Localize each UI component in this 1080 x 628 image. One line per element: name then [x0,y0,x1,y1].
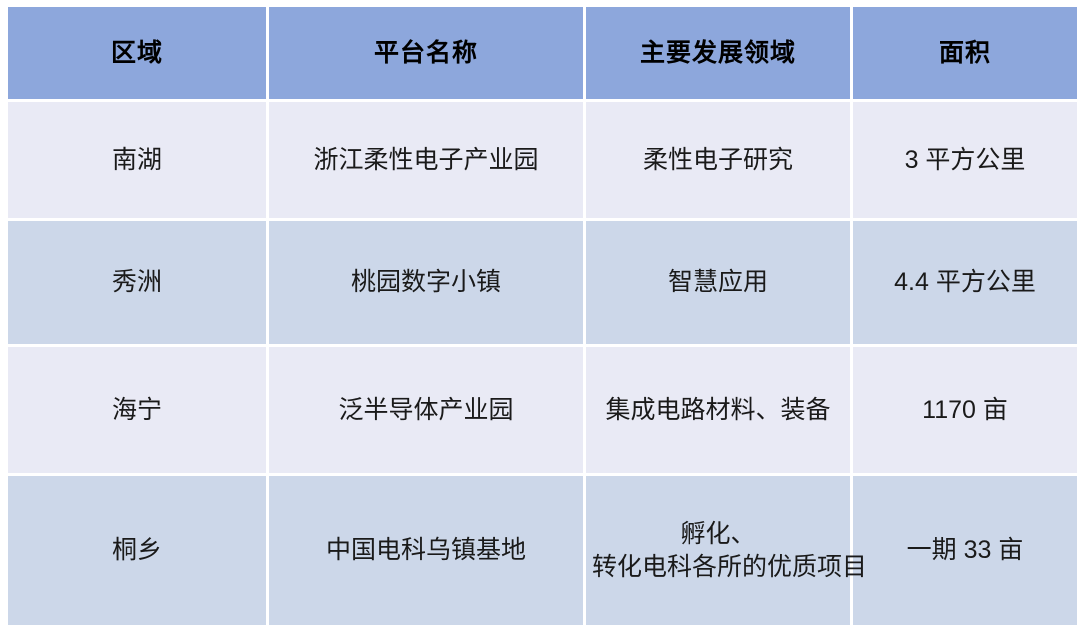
table-header-row: 区域 平台名称 主要发展领域 面积 [8,7,1077,99]
table-row: 南湖 浙江柔性电子产业园 柔性电子研究 3 平方公里 [8,102,1077,218]
cell-region: 桐乡 [8,476,266,625]
cell-region: 南湖 [8,102,266,218]
table-row: 海宁 泛半导体产业园 集成电路材料、装备 1170 亩 [8,347,1077,473]
column-header-platform: 平台名称 [269,7,583,99]
column-header-region: 区域 [8,7,266,99]
cell-field: 智慧应用 [586,221,850,344]
table-body: 南湖 浙江柔性电子产业园 柔性电子研究 3 平方公里 秀洲 桃园数字小镇 智慧应… [8,102,1077,625]
cell-region: 海宁 [8,347,266,473]
cell-field: 孵化、转化电科各所的优质项目 [586,476,850,625]
cell-area: 一期 33 亩 [853,476,1077,625]
table-header: 区域 平台名称 主要发展领域 面积 [8,7,1077,99]
table-row: 秀洲 桃园数字小镇 智慧应用 4.4 平方公里 [8,221,1077,344]
cell-area: 1170 亩 [853,347,1077,473]
platforms-table: 区域 平台名称 主要发展领域 面积 南湖 浙江柔性电子产业园 柔性电子研究 3 … [5,4,1080,628]
cell-area: 4.4 平方公里 [853,221,1077,344]
cell-field: 柔性电子研究 [586,102,850,218]
column-header-area: 面积 [853,7,1077,99]
cell-platform: 泛半导体产业园 [269,347,583,473]
cell-platform: 浙江柔性电子产业园 [269,102,583,218]
cell-platform: 中国电科乌镇基地 [269,476,583,625]
cell-area: 3 平方公里 [853,102,1077,218]
table-row: 桐乡 中国电科乌镇基地 孵化、转化电科各所的优质项目 一期 33 亩 [8,476,1077,625]
cell-platform: 桃园数字小镇 [269,221,583,344]
cell-field: 集成电路材料、装备 [586,347,850,473]
cell-region: 秀洲 [8,221,266,344]
table-container: 区域 平台名称 主要发展领域 面积 南湖 浙江柔性电子产业园 柔性电子研究 3 … [5,4,1073,596]
column-header-field: 主要发展领域 [586,7,850,99]
